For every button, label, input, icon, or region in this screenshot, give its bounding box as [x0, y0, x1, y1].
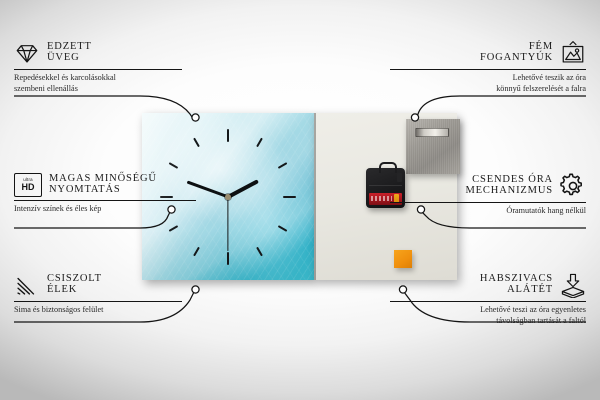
callout-rule	[390, 69, 586, 70]
callout-habszivacs-alatet: HABSZIVACS ALÁTÉT Lehetővé teszi az óra …	[390, 272, 586, 326]
callout-header: HABSZIVACS ALÁTÉT	[390, 272, 586, 298]
callout-csiszolt-elek: CSISZOLT ÉLEK Sima és biztonságos felüle…	[14, 272, 182, 316]
callout-title: FÉM FOGANTYÚK	[480, 42, 553, 64]
callout-description-line: Sima és biztonságos felület	[14, 305, 182, 316]
callout-magas-minosegu-nyomtatas: ultra HD MAGAS MINŐSÉGŰ NYOMTATÁS Intenz…	[14, 173, 196, 215]
callout-description-line: Repedésekkel és karcolásokkal	[14, 73, 182, 84]
callout-title-line: NYOMTATÁS	[49, 185, 121, 196]
callout-fem-fogantyuk: FÉM FOGANTYÚK Lehetővé teszik az óra kön…	[390, 40, 586, 94]
ultra-hd-icon: ultra HD	[14, 173, 42, 197]
callout-title: CSENDES ÓRA MECHANIZMUS	[465, 175, 553, 197]
callout-rule	[390, 202, 586, 203]
callout-description-line: Lehetővé teszi az óra egyenletes	[390, 305, 586, 316]
battery-label	[371, 196, 392, 201]
callout-description-line: Intenzív színek és éles kép	[14, 204, 196, 215]
callout-title: HABSZIVACS ALÁTÉT	[480, 274, 553, 296]
callout-rule	[14, 200, 196, 201]
callout-description-line: Lehetővé teszik az óra	[390, 73, 586, 84]
callout-title-line: ÜVEG	[47, 53, 80, 64]
callout-header: EDZETT ÜVEG	[14, 40, 182, 66]
metal-hanger-plate	[406, 119, 460, 174]
callout-header: FÉM FOGANTYÚK	[390, 40, 586, 66]
plate-brushed-texture	[406, 119, 460, 174]
callout-description-line: Óramutatók hang nélkül	[390, 206, 586, 217]
callout-rule	[14, 301, 182, 302]
foam-spacer-pad	[394, 250, 412, 268]
beveled-edge-icon	[14, 272, 40, 298]
picture-hanger-icon	[560, 40, 586, 66]
callout-title: MAGAS MINŐSÉGŰ NYOMTATÁS	[49, 174, 157, 196]
callout-edzett-uveg: EDZETT ÜVEG Repedésekkel és karcolásokka…	[14, 40, 182, 94]
callout-header: CSENDES ÓRA MECHANIZMUS	[390, 173, 586, 199]
callout-title-line: ÉLEK	[47, 285, 77, 296]
callout-description-line: távolságban tartását a faltól	[390, 316, 586, 327]
callout-title: EDZETT ÜVEG	[47, 42, 92, 64]
gear-icon	[560, 173, 586, 199]
callout-rule	[14, 69, 182, 70]
callout-title-line: ALÁTÉT	[507, 285, 553, 296]
hanger-loop	[379, 162, 397, 173]
ultra-hd-large-label: HD	[22, 183, 35, 192]
callout-header: CSISZOLT ÉLEK	[14, 272, 182, 298]
connector-endpoint	[192, 286, 199, 293]
diamond-icon	[14, 40, 40, 66]
callout-title: CSISZOLT ÉLEK	[47, 274, 102, 296]
callout-title-line: FOGANTYÚK	[480, 53, 553, 64]
callout-csendes-ora-mechanizmus: CSENDES ÓRA MECHANIZMUS Óramutatók hang …	[390, 173, 586, 217]
callout-rule	[390, 301, 586, 302]
callout-title-line: MECHANIZMUS	[465, 186, 553, 197]
callout-header: ultra HD MAGAS MINŐSÉGŰ NYOMTATÁS	[14, 173, 196, 197]
infographic-canvas: EDZETT ÜVEG Repedésekkel és karcolásokka…	[0, 0, 600, 400]
callout-description-line: szembeni ellenállás	[14, 84, 182, 95]
panel-seam	[314, 113, 316, 280]
foam-pad-arrow-icon	[560, 272, 586, 298]
callout-description-line: könnyű felszerelését a falra	[390, 84, 586, 95]
